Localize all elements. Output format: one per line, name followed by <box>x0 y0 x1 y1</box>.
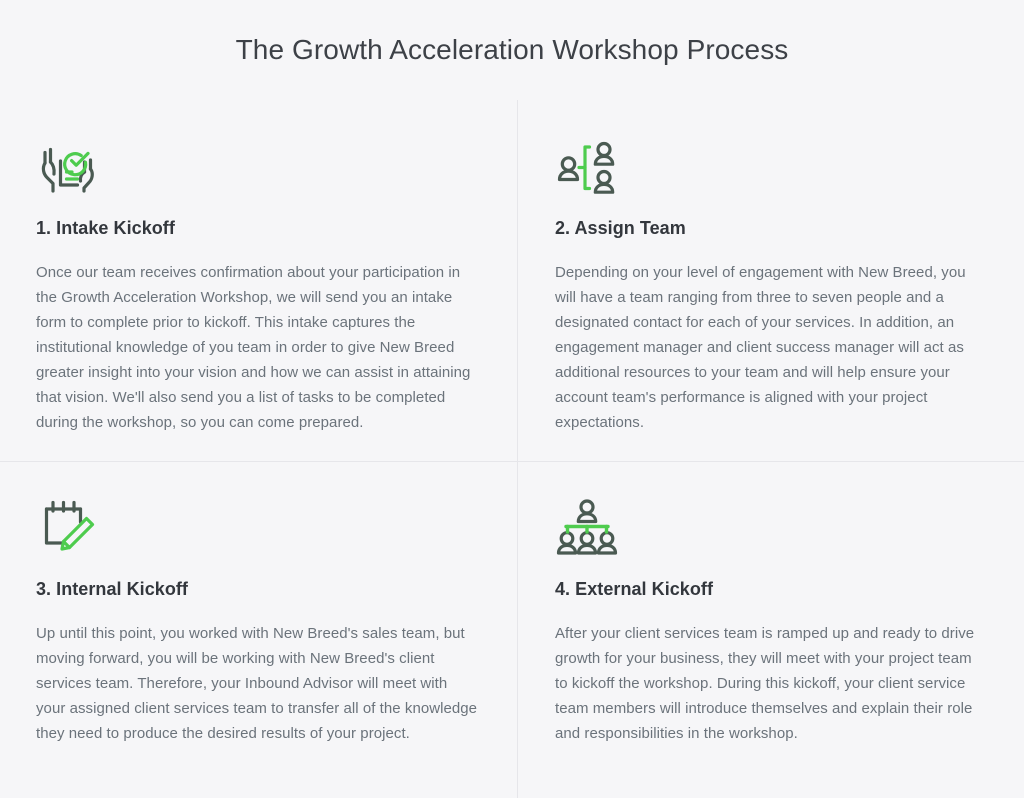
process-grid: 1. Intake Kickoff Once our team receives… <box>0 100 1024 798</box>
process-step-4: 4. External Kickoff After your client se… <box>517 461 1024 798</box>
step-body: After your client services team is rampe… <box>555 621 988 746</box>
page-title: The Growth Acceleration Workshop Process <box>236 33 789 67</box>
assign-team-icon <box>555 136 619 196</box>
org-chart-team-icon <box>555 497 619 557</box>
process-page: The Growth Acceleration Workshop Process <box>0 0 1024 798</box>
process-step-1: 1. Intake Kickoff Once our team receives… <box>0 100 517 461</box>
notepad-pencil-icon <box>36 497 100 557</box>
step-body: Depending on your level of engagement wi… <box>555 260 988 435</box>
hands-holding-checklist-icon <box>36 136 100 196</box>
process-step-3: 3. Internal Kickoff Up until this point,… <box>0 461 517 798</box>
step-heading: 1. Intake Kickoff <box>36 217 479 240</box>
step-heading: 4. External Kickoff <box>555 578 988 601</box>
step-heading: 3. Internal Kickoff <box>36 578 479 601</box>
step-body: Once our team receives confirmation abou… <box>36 260 479 435</box>
step-heading: 2. Assign Team <box>555 217 988 240</box>
process-step-2: 2. Assign Team Depending on your level o… <box>517 100 1024 461</box>
step-body: Up until this point, you worked with New… <box>36 621 479 746</box>
title-bar: The Growth Acceleration Workshop Process <box>0 0 1024 100</box>
